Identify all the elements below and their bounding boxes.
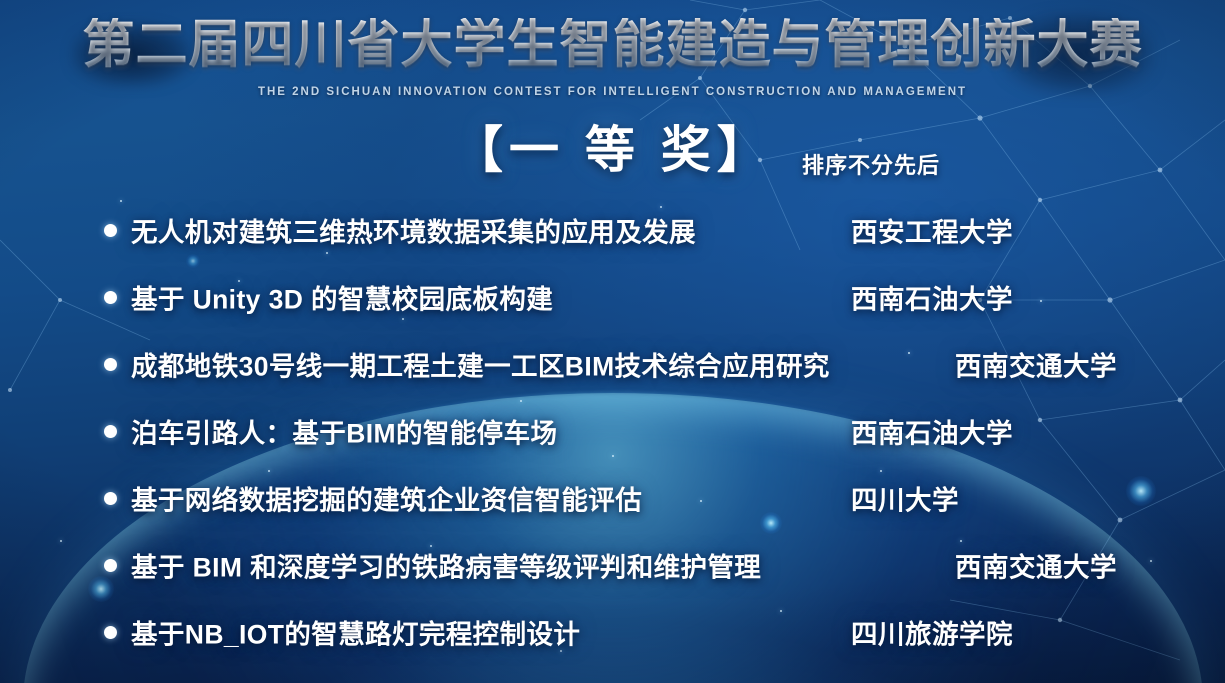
university-name: 西南交通大学 (955, 545, 1117, 584)
winner-row: 无人机对建筑三维热环境数据采集的应用及发展西安工程大学 (0, 196, 1225, 263)
university-name: 四川大学 (851, 478, 959, 517)
award-slide: 第二届四川省大学生智能建造与管理创新大赛 THE 2ND SICHUAN INN… (0, 0, 1225, 683)
university-name: 西安工程大学 (851, 210, 1013, 249)
winner-row: 泊车引路人：基于BIM的智能停车场西南石油大学 (0, 397, 1225, 464)
winners-list: 无人机对建筑三维热环境数据采集的应用及发展西安工程大学基于 Unity 3D 的… (0, 196, 1225, 665)
university-name: 西南石油大学 (851, 277, 1013, 316)
winner-row: 基于 BIM 和深度学习的铁路病害等级评判和维护管理西南交通大学 (0, 531, 1225, 598)
contest-title: 第二届四川省大学生智能建造与管理创新大赛 (0, 18, 1225, 73)
project-title: 成都地铁30号线一期工程土建一工区BIM技术综合应用研究 (131, 344, 830, 383)
winner-row: 基于 Unity 3D 的智慧校园底板构建西南石油大学 (0, 263, 1225, 330)
university-name: 西南交通大学 (955, 344, 1117, 383)
circle-bullet-icon (104, 291, 117, 304)
circle-bullet-icon (104, 559, 117, 572)
slide-header: 第二届四川省大学生智能建造与管理创新大赛 THE 2ND SICHUAN INN… (0, 0, 1225, 112)
award-order-note: 排序不分先后 (802, 148, 940, 180)
award-level-title: 【一 等 奖】 (453, 110, 773, 182)
circle-bullet-icon (104, 224, 117, 237)
winner-row: 基于网络数据挖掘的建筑企业资信智能评估四川大学 (0, 464, 1225, 531)
project-title: 泊车引路人：基于BIM的智能停车场 (131, 411, 557, 450)
project-title: 无人机对建筑三维热环境数据采集的应用及发展 (131, 210, 696, 249)
award-heading-row: 【一 等 奖】 排序不分先后 (0, 112, 1225, 184)
circle-bullet-icon (104, 425, 117, 438)
project-title: 基于网络数据挖掘的建筑企业资信智能评估 (131, 478, 642, 517)
winner-row: 成都地铁30号线一期工程土建一工区BIM技术综合应用研究西南交通大学 (0, 330, 1225, 397)
winner-row: 基于NB_IOT的智慧路灯完程控制设计四川旅游学院 (0, 598, 1225, 665)
circle-bullet-icon (104, 492, 117, 505)
project-title: 基于 BIM 和深度学习的铁路病害等级评判和维护管理 (131, 545, 761, 584)
project-title: 基于 Unity 3D 的智慧校园底板构建 (131, 277, 553, 316)
university-name: 四川旅游学院 (851, 612, 1013, 651)
circle-bullet-icon (104, 358, 117, 371)
project-title: 基于NB_IOT的智慧路灯完程控制设计 (131, 612, 580, 651)
contest-subtitle-english: THE 2ND SICHUAN INNOVATION CONTEST FOR I… (0, 86, 1225, 98)
university-name: 西南石油大学 (851, 411, 1013, 450)
circle-bullet-icon (104, 626, 117, 639)
